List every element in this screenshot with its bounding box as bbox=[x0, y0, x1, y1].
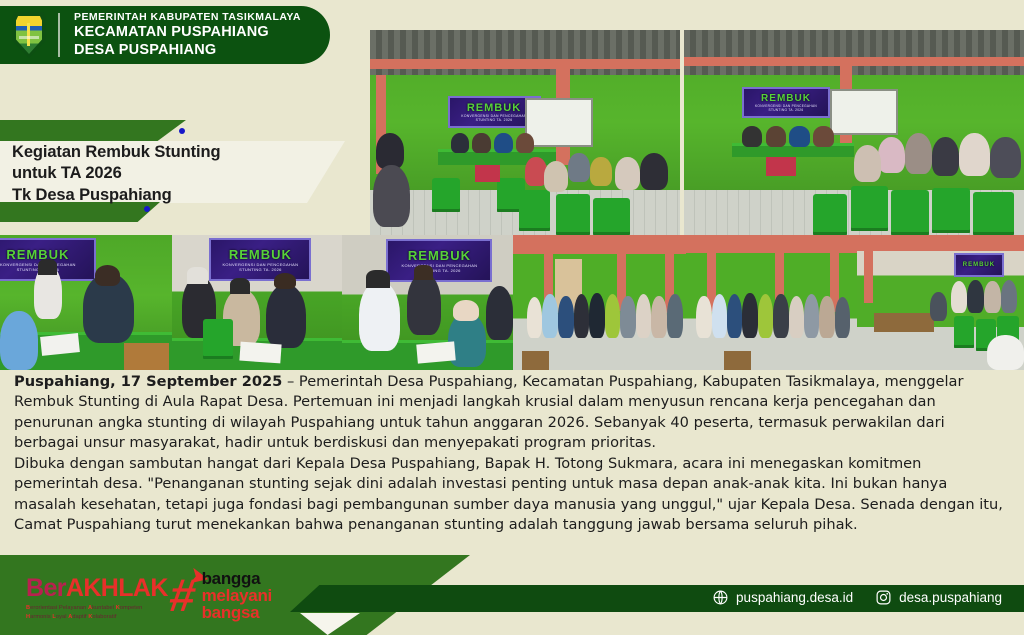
article-body: Puspahiang, 17 September 2025 – Pemerint… bbox=[14, 372, 1010, 535]
title-line-2: untuk TA 2026 bbox=[12, 163, 312, 184]
title-accent-bar-top bbox=[0, 120, 186, 142]
banner-subtitle-2: STUNTING TA. 2026 bbox=[239, 267, 282, 272]
header-line-regency: PEMERINTAH KABUPATEN TASIKMALAYA bbox=[74, 12, 301, 23]
photo-group-photo-right bbox=[686, 235, 857, 370]
decor-dot-bottom bbox=[144, 206, 150, 212]
photo-handing-document: REMBUK KONVERGENSI DAN PENCEGAHAN STUNTI… bbox=[342, 235, 513, 370]
bangga-melayani-bangsa-logo: # bangga melayani bangsa bbox=[170, 570, 272, 621]
banner-subtitle-2: STUNTING TA. 2026 bbox=[769, 108, 804, 112]
globe-icon bbox=[712, 589, 729, 606]
website-label: puspahiang.desa.id bbox=[736, 590, 853, 605]
decor-dot-top bbox=[179, 128, 185, 134]
poster-canvas: PEMERINTAH KABUPATEN TASIKMALAYA KECAMAT… bbox=[0, 0, 1024, 635]
photo-group-photo-left bbox=[513, 235, 686, 370]
banner-title: REMBUK bbox=[408, 248, 471, 263]
title-line-3: Tk Desa Puspahiang bbox=[12, 185, 312, 206]
photo-signing-documents: REMBUK KONVERGENSI DAN PENCEGAHAN STUNTI… bbox=[172, 235, 342, 370]
article-paragraph-2: Dibuka dengan sambutan hangat dari Kepal… bbox=[14, 454, 1010, 536]
instagram-label: desa.puspahiang bbox=[899, 590, 1002, 605]
header-line-district: KECAMATAN PUSPAHIANG bbox=[74, 25, 301, 40]
website-contact[interactable]: puspahiang.desa.id bbox=[712, 589, 853, 606]
berakhlak-suffix: AKHLAK bbox=[66, 574, 168, 602]
header-text-group: PEMERINTAH KABUPATEN TASIKMALAYA KECAMAT… bbox=[74, 12, 301, 57]
page-title: Kegiatan Rembuk Stunting untuk TA 2026 T… bbox=[12, 142, 312, 206]
bangga-line-2: melayani bbox=[202, 587, 272, 604]
article-dateline: Puspahiang, 17 September 2025 bbox=[14, 373, 282, 390]
header-line-village: DESA PUSPAHIANG bbox=[74, 43, 301, 58]
banner-subtitle-2: STUNTING TA. 2026 bbox=[476, 118, 513, 122]
bangga-line-1: bangga bbox=[202, 570, 272, 587]
footer: BerAKHLAK➤ Berorientasi Pelayanan Akunta… bbox=[0, 555, 1024, 635]
hash-icon: # bbox=[167, 577, 198, 614]
banner-title: REMBUK bbox=[229, 247, 292, 262]
title-line-1: Kegiatan Rembuk Stunting bbox=[12, 142, 312, 163]
tasikmalaya-crest-icon bbox=[12, 12, 46, 58]
banner-title: REMBUK bbox=[761, 93, 811, 104]
banner-title: REMBUK bbox=[6, 247, 69, 262]
photo-meeting-room-wide: REMBUK KONVERGENSI DAN PENCEGAHAN STUNTI… bbox=[370, 30, 680, 235]
instagram-icon bbox=[875, 589, 892, 606]
photo-room-overview: REMBUK bbox=[857, 235, 1024, 370]
header-identity-bar: PEMERINTAH KABUPATEN TASIKMALAYA KECAMAT… bbox=[0, 6, 330, 64]
photo-registration-desk: REMBUK KONVERGENSI DAN PENCEGAHAN STUNTI… bbox=[0, 235, 172, 370]
header-divider bbox=[58, 13, 60, 57]
footer-contacts: puspahiang.desa.id desa.puspahiang bbox=[712, 589, 1002, 606]
banner-title: REMBUK bbox=[467, 102, 521, 114]
photo-meeting-room-audience: REMBUK KONVERGENSI DAN PENCEGAHAN STUNTI… bbox=[684, 30, 1024, 235]
article-paragraph-1: Puspahiang, 17 September 2025 – Pemerint… bbox=[14, 372, 1010, 454]
berakhlak-prefix: Ber bbox=[26, 574, 66, 602]
bangga-line-3: bangsa bbox=[202, 604, 272, 621]
instagram-contact[interactable]: desa.puspahiang bbox=[875, 589, 1002, 606]
